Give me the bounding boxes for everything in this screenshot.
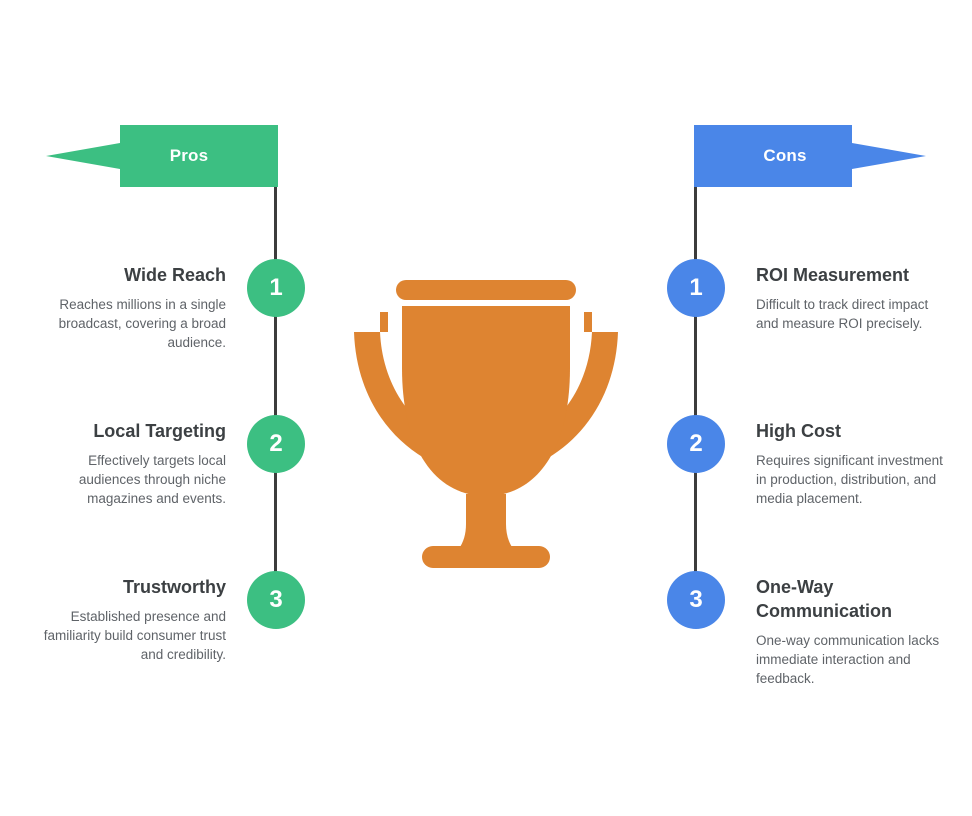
pros-item-3-title: Trustworthy bbox=[38, 575, 226, 599]
trophy-graphic bbox=[340, 272, 632, 578]
cons-node-2: 2 bbox=[667, 415, 725, 473]
pros-item-1-description: Reaches millions in a single broadcast, … bbox=[38, 295, 226, 352]
pros-item-3: Trustworthy Established presence and fam… bbox=[38, 575, 226, 664]
cons-item-2-description: Requires significant investment in produ… bbox=[756, 451, 944, 508]
cons-item-2: High Cost Requires significant investmen… bbox=[756, 419, 944, 508]
trophy-icon bbox=[340, 272, 632, 578]
pros-banner: Pros bbox=[46, 125, 278, 187]
cons-item-2-title: High Cost bbox=[756, 419, 944, 443]
pros-item-3-description: Established presence and familiarity bui… bbox=[38, 607, 226, 664]
pros-node-1: 1 bbox=[247, 259, 305, 317]
pros-item-2-description: Effectively targets local audiences thro… bbox=[38, 451, 226, 508]
pros-item-2: Local Targeting Effectively targets loca… bbox=[38, 419, 226, 508]
cons-item-1-title: ROI Measurement bbox=[756, 263, 944, 287]
pros-node-2: 2 bbox=[247, 415, 305, 473]
cons-banner: Cons bbox=[694, 125, 926, 187]
pros-item-2-title: Local Targeting bbox=[38, 419, 226, 443]
pros-item-1: Wide Reach Reaches millions in a single … bbox=[38, 263, 226, 352]
pros-item-1-title: Wide Reach bbox=[38, 263, 226, 287]
pros-banner-label: Pros bbox=[104, 125, 274, 187]
cons-node-1: 1 bbox=[667, 259, 725, 317]
cons-item-3: One-Way Communication One-way communicat… bbox=[756, 575, 944, 688]
pros-node-3: 3 bbox=[247, 571, 305, 629]
cons-timeline-spine bbox=[694, 187, 697, 604]
cons-node-3: 3 bbox=[667, 571, 725, 629]
cons-item-3-description: One-way communication lacks immediate in… bbox=[756, 631, 944, 688]
cons-item-3-title: One-Way Communication bbox=[756, 575, 944, 623]
cons-banner-label: Cons bbox=[700, 125, 870, 187]
cons-item-1: ROI Measurement Difficult to track direc… bbox=[756, 263, 944, 333]
pros-timeline-spine bbox=[274, 187, 277, 604]
cons-item-1-description: Difficult to track direct impact and mea… bbox=[756, 295, 944, 333]
